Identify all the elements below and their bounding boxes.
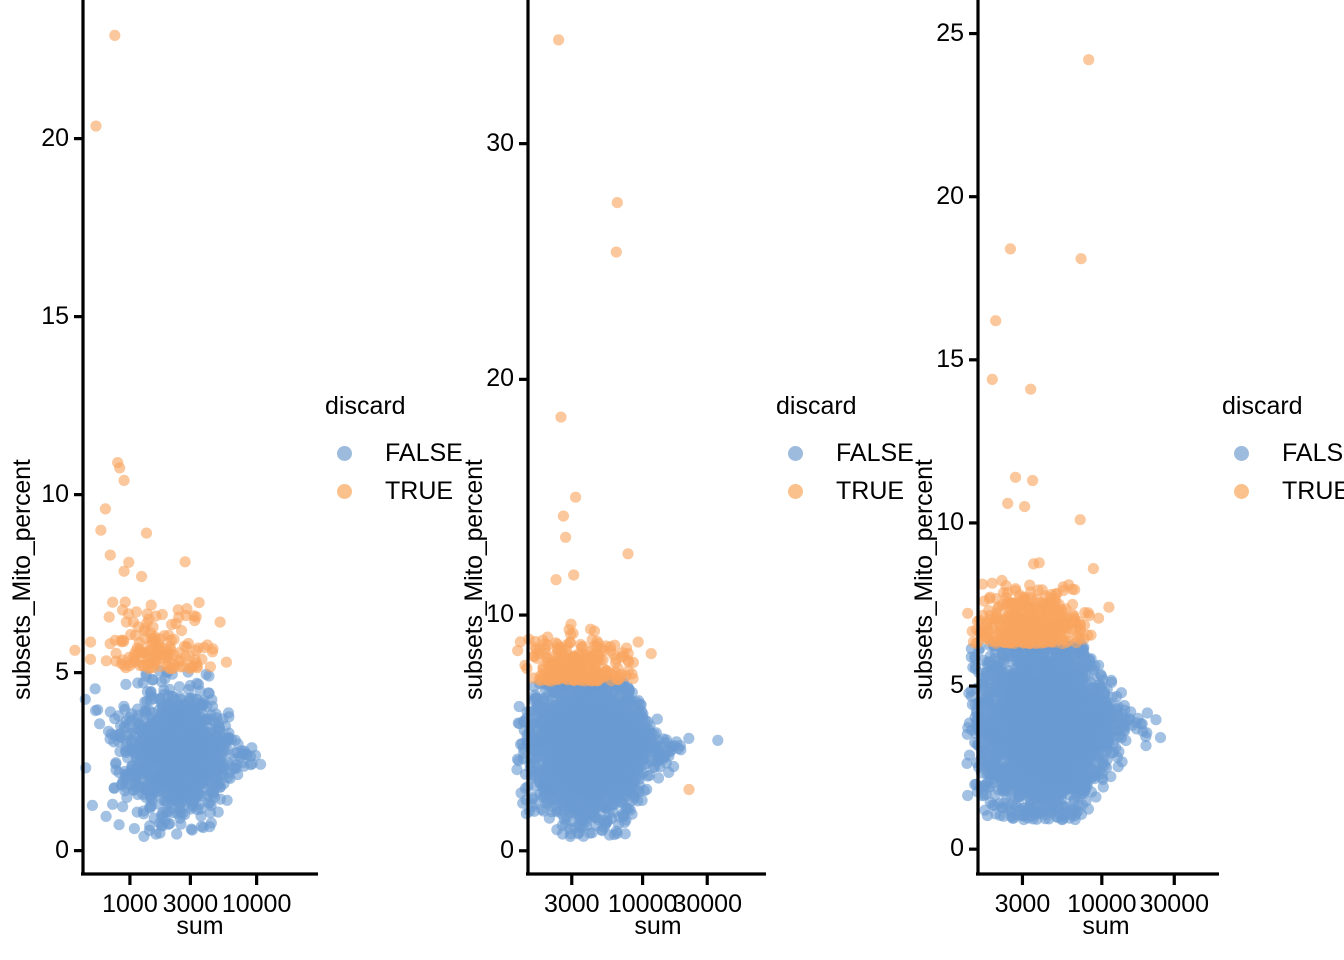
panel-2-ytick-label: 30: [486, 129, 514, 158]
panel-1-ytick-label: 10: [41, 480, 69, 509]
panel-2-legend-label-true: TRUE: [836, 477, 904, 506]
panel-3-xtick-label: 30000: [1114, 890, 1234, 919]
panel-2-ytick-label: 20: [486, 364, 514, 393]
panel-2-ytick-label: 10: [486, 600, 514, 629]
panel-1-ytick-label: 20: [41, 124, 69, 153]
panel-1-y-axis-title: subsets_Mito_percent: [8, 459, 37, 700]
panel-3-legend: discard FALSE TRUE: [1222, 392, 1344, 510]
panel-2-legend-item-true[interactable]: TRUE: [776, 472, 914, 510]
panel-3: subsets_Mito_percent sum discard FALSE T…: [896, 0, 1344, 960]
panel-3-ytick-label: 25: [936, 19, 964, 48]
panel-1-legend-item-true[interactable]: TRUE: [325, 472, 463, 510]
panel-2-xtick-label: 30000: [647, 890, 767, 919]
panel-1-legend-title: discard: [325, 392, 463, 421]
panel-2-legend-item-false[interactable]: FALSE: [776, 434, 914, 472]
panel-2-legend-title: discard: [776, 392, 914, 421]
panel-3-legend-item-false[interactable]: FALSE: [1222, 434, 1344, 472]
panel-1-legend-item-false[interactable]: FALSE: [325, 434, 463, 472]
figure-root: subsets_Mito_percent sum discard FALSE T…: [0, 0, 1344, 960]
legend-key-true-icon: [776, 484, 814, 499]
legend-key-true-icon: [325, 484, 363, 499]
panel-1-ytick-label: 5: [55, 658, 69, 687]
panel-2-legend: discard FALSE TRUE: [776, 392, 914, 510]
panel-3-legend-title: discard: [1222, 392, 1344, 421]
panel-2-ytick-label: 0: [500, 836, 514, 865]
panel-3-ytick-label: 15: [936, 345, 964, 374]
panel-1-ytick-label: 0: [55, 836, 69, 865]
panel-1-legend-label-true: TRUE: [385, 477, 453, 506]
panel-3-ytick-label: 5: [950, 671, 964, 700]
panel-3-legend-label-false: FALSE: [1282, 439, 1344, 468]
legend-key-false-icon: [1222, 446, 1260, 461]
panel-1-xtick-label: 10000: [197, 890, 317, 919]
panel-3-legend-item-true[interactable]: TRUE: [1222, 472, 1344, 510]
panel-1: subsets_Mito_percent sum discard FALSE T…: [0, 0, 448, 960]
panel-1-legend: discard FALSE TRUE: [325, 392, 463, 510]
panel-3-ytick-label: 0: [950, 834, 964, 863]
panel-3-y-axis-title: subsets_Mito_percent: [910, 459, 939, 700]
panel-2-y-axis-title: subsets_Mito_percent: [460, 459, 489, 700]
legend-key-false-icon: [325, 446, 363, 461]
panel-2: subsets_Mito_percent sum discard FALSE T…: [448, 0, 896, 960]
panel-3-ytick-label: 10: [936, 508, 964, 537]
legend-key-true-icon: [1222, 484, 1260, 499]
panel-1-ytick-label: 15: [41, 302, 69, 331]
panel-3-ytick-label: 20: [936, 182, 964, 211]
panel-3-legend-label-true: TRUE: [1282, 477, 1344, 506]
legend-key-false-icon: [776, 446, 814, 461]
